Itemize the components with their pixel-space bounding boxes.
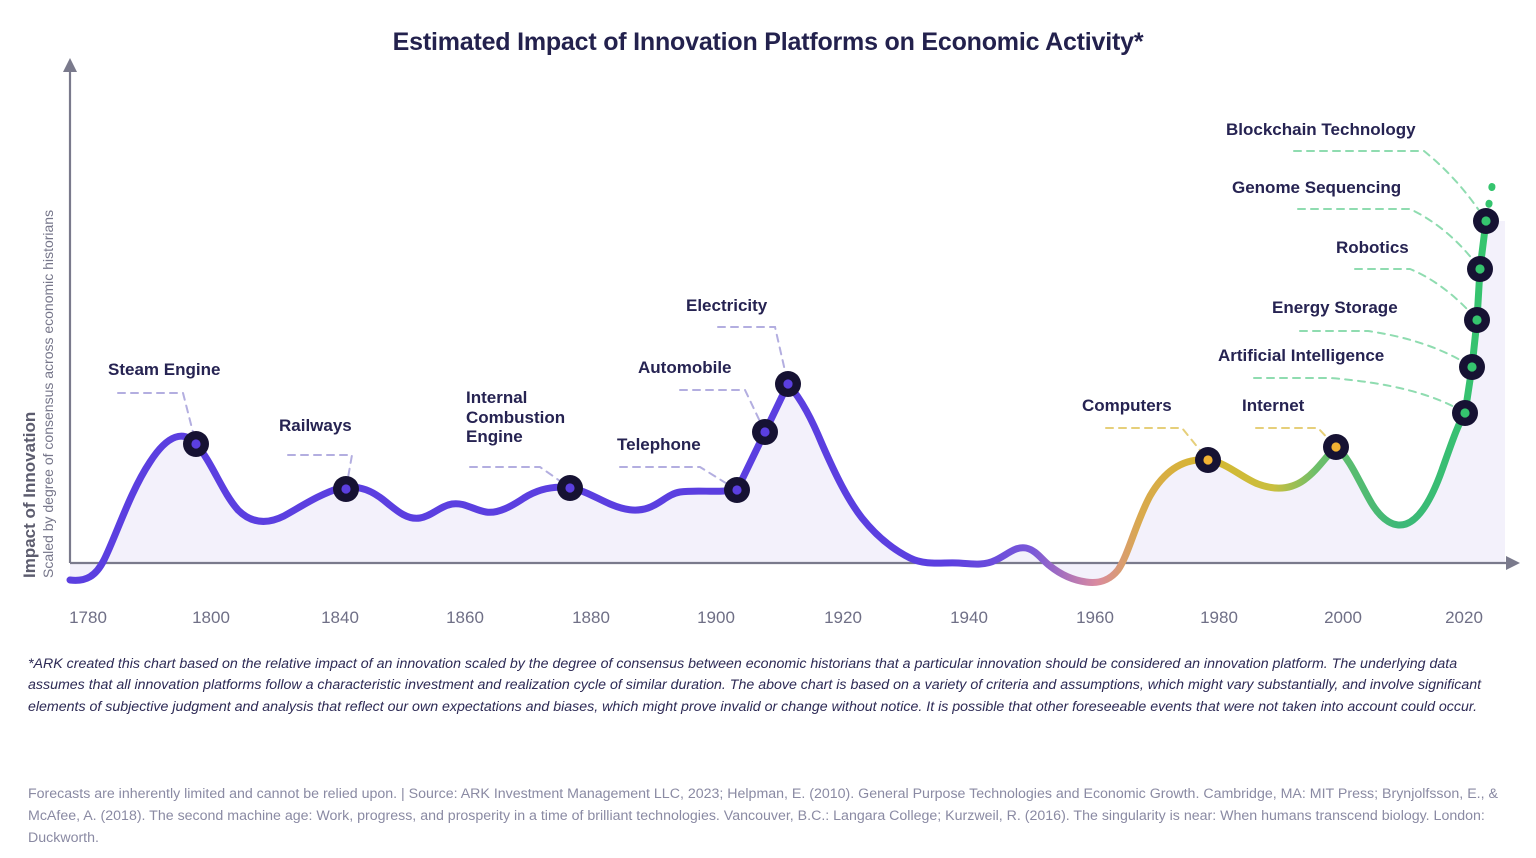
- label-internet: Internet: [1242, 396, 1304, 416]
- leader-telephone: [620, 467, 737, 490]
- x-tick-1940: 1940: [950, 608, 988, 628]
- x-tick-1780: 1780: [69, 608, 107, 628]
- marker-railways: [333, 476, 359, 502]
- leader-computers: [1106, 428, 1208, 460]
- marker-steam-engine: [183, 431, 209, 457]
- marker-computers: [1195, 447, 1221, 473]
- x-tick-1880: 1880: [572, 608, 610, 628]
- label-computers: Computers: [1082, 396, 1172, 416]
- x-tick-1840: 1840: [321, 608, 359, 628]
- footnote-text: *ARK created this chart based on the rel…: [28, 654, 1506, 718]
- marker-internet: [1323, 434, 1349, 460]
- label-robotics: Robotics: [1336, 238, 1409, 258]
- label-steam-engine: Steam Engine: [108, 360, 220, 380]
- label-telephone: Telephone: [617, 435, 701, 455]
- x-tick-1980: 1980: [1200, 608, 1238, 628]
- chart-container: Estimated Impact of Innovation Platforms…: [0, 0, 1536, 648]
- label-blockchain-technology: Blockchain Technology: [1226, 120, 1416, 140]
- leader-automobile: [680, 390, 765, 432]
- x-tick-2000: 2000: [1324, 608, 1362, 628]
- marker-artificial-intelligence: [1452, 400, 1478, 426]
- y-axis-arrow: [63, 58, 77, 72]
- leader-lines-recent: [1106, 428, 1336, 460]
- label-railways: Railways: [279, 416, 352, 436]
- marker-electricity: [775, 371, 801, 397]
- leader-lines-past: [118, 327, 788, 490]
- marker-automobile: [752, 419, 778, 445]
- x-tick-1920: 1920: [824, 608, 862, 628]
- x-tick-1900: 1900: [697, 608, 735, 628]
- x-tick-1960: 1960: [1076, 608, 1114, 628]
- label-automobile: Automobile: [638, 358, 732, 378]
- marker-telephone: [724, 477, 750, 503]
- label-internal-combustion-engine: Internal Combustion Engine: [466, 388, 596, 447]
- chart-svg: [0, 0, 1536, 648]
- marker-blockchain-technology: [1473, 208, 1499, 234]
- marker-internal-combustion-engine: [557, 475, 583, 501]
- x-axis-arrow: [1506, 556, 1520, 570]
- marker-genome-sequencing: [1467, 256, 1493, 282]
- source-citation: Forecasts are inherently limited and can…: [28, 783, 1506, 849]
- x-tick-1860: 1860: [446, 608, 484, 628]
- label-genome-sequencing: Genome Sequencing: [1232, 178, 1401, 198]
- label-electricity: Electricity: [686, 296, 767, 316]
- x-tick-1800: 1800: [192, 608, 230, 628]
- x-tick-2020: 2020: [1445, 608, 1483, 628]
- marker-robotics: [1464, 307, 1490, 333]
- marker-energy-storage: [1459, 354, 1485, 380]
- label-energy-storage: Energy Storage: [1272, 298, 1398, 318]
- label-artificial-intelligence: Artificial Intelligence: [1218, 346, 1384, 366]
